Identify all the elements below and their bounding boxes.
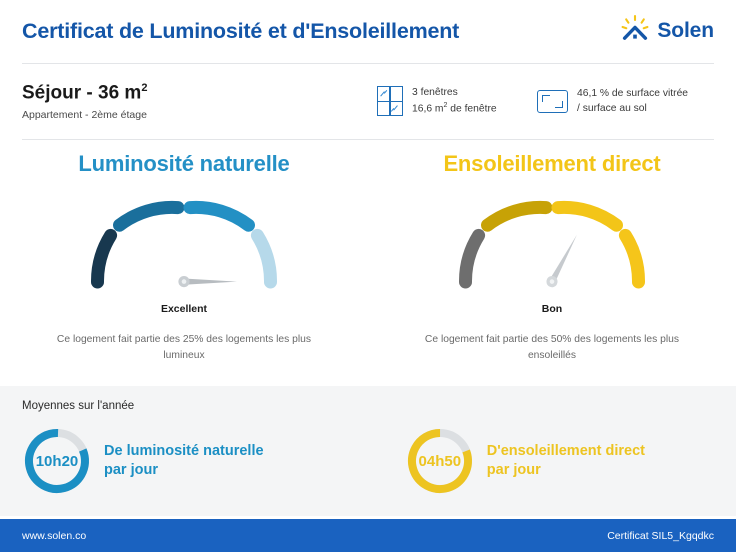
gauge-rating-ensoleillement: Bon	[368, 303, 736, 315]
gauge-luminosite-svg	[79, 189, 289, 297]
average-line2-luminosite: par jour	[104, 461, 264, 480]
gauge-segment-3	[190, 207, 249, 225]
average-line1-ensoleillement: D'ensoleillement direct	[487, 442, 645, 461]
gauge-segment-2	[488, 207, 547, 225]
average-text-luminosite: De luminosité naturelle par jour	[104, 442, 264, 479]
averages-row: 10h20 De luminosité naturelle par jour 0…	[22, 426, 714, 496]
donut-value-ensoleillement: 04h50	[405, 426, 475, 496]
windows-area: 16,6 m2 de fenêtre	[412, 101, 497, 117]
property-info-row: Séjour - 36 m2 Appartement - 2ème étage …	[0, 64, 736, 139]
gauge-ensoleillement-svg	[447, 189, 657, 297]
gauge-segment-3	[558, 207, 617, 225]
average-line1-luminosite: De luminosité naturelle	[104, 442, 264, 461]
gauge-panels: Luminosité naturelle Excell	[0, 145, 736, 383]
room-name-text: Séjour - 36 m	[22, 83, 141, 104]
donut-value-luminosite: 10h20	[22, 426, 92, 496]
floor-area-icon	[537, 90, 568, 113]
gauge-segment-1	[465, 235, 478, 282]
glazing-stat-text: 46,1 % de surface vitrée / surface au so…	[577, 87, 688, 116]
gauge-needle-ensoleillement	[544, 232, 581, 289]
divider-bottom	[22, 139, 714, 140]
window-icon	[377, 86, 403, 116]
sun-house-icon	[620, 14, 650, 49]
gauge-ensoleillement	[447, 189, 657, 297]
panel-luminosite: Luminosité naturelle Excell	[0, 145, 368, 383]
glazing-ratio: 46,1 % de surface vitrée	[577, 87, 688, 102]
windows-stat: 3 fenêtres 16,6 m2 de fenêtre	[377, 86, 537, 117]
averages-section: Moyennes sur l'année 10h20 De luminosité…	[0, 386, 736, 516]
windows-count: 3 fenêtres	[412, 86, 497, 101]
windows-area-suffix: de fenêtre	[447, 103, 496, 114]
gauge-luminosite	[79, 189, 289, 297]
glazing-ratio-sub: / surface au sol	[577, 102, 688, 117]
panel-title-luminosite: Luminosité naturelle	[0, 151, 368, 177]
windows-stat-text: 3 fenêtres 16,6 m2 de fenêtre	[412, 86, 497, 117]
room-name: Séjour - 36 m2	[22, 82, 377, 104]
room-info: Séjour - 36 m2 Appartement - 2ème étage	[22, 82, 377, 120]
page-header: Certificat de Luminosité et d'Ensoleille…	[0, 0, 736, 62]
footer-certificate-id: Certificat SIL5_Kgqdkc	[607, 530, 714, 542]
gauge-segment-2	[120, 207, 179, 225]
averages-title: Moyennes sur l'année	[22, 400, 714, 412]
gauge-segment-1	[97, 235, 110, 282]
glazing-stat: 46,1 % de surface vitrée / surface au so…	[537, 87, 688, 116]
room-area-exponent: 2	[141, 82, 147, 94]
panel-ensoleillement: Ensoleillement direct Bon	[368, 145, 736, 383]
gauge-description-luminosite: Ce logement fait partie des 25% des loge…	[39, 332, 329, 364]
gauge-segment-4	[625, 235, 638, 282]
average-line2-ensoleillement: par jour	[487, 461, 645, 480]
gauge-description-ensoleillement: Ce logement fait partie des 50% des loge…	[407, 332, 697, 364]
brand-name: Solen	[657, 19, 714, 43]
room-subtitle: Appartement - 2ème étage	[22, 109, 377, 121]
footer-website[interactable]: www.solen.co	[22, 530, 86, 542]
page-title: Certificat de Luminosité et d'Ensoleille…	[22, 19, 459, 44]
page-footer: www.solen.co Certificat SIL5_Kgqdkc	[0, 519, 736, 552]
gauge-rating-luminosite: Excellent	[0, 303, 368, 315]
brand-logo: Solen	[620, 14, 714, 49]
gauge-needle-luminosite	[178, 276, 237, 287]
gauge-segment-4	[257, 235, 270, 282]
donut-luminosite: 10h20	[22, 426, 92, 496]
average-text-ensoleillement: D'ensoleillement direct par jour	[487, 442, 645, 479]
windows-area-value: 16,6 m	[412, 103, 443, 114]
average-item-luminosite: 10h20 De luminosité naturelle par jour	[22, 426, 367, 496]
donut-ensoleillement: 04h50	[405, 426, 475, 496]
panel-title-ensoleillement: Ensoleillement direct	[368, 151, 736, 177]
certificate-page: Certificat de Luminosité et d'Ensoleille…	[0, 0, 736, 552]
average-item-ensoleillement: 04h50 D'ensoleillement direct par jour	[367, 426, 714, 496]
